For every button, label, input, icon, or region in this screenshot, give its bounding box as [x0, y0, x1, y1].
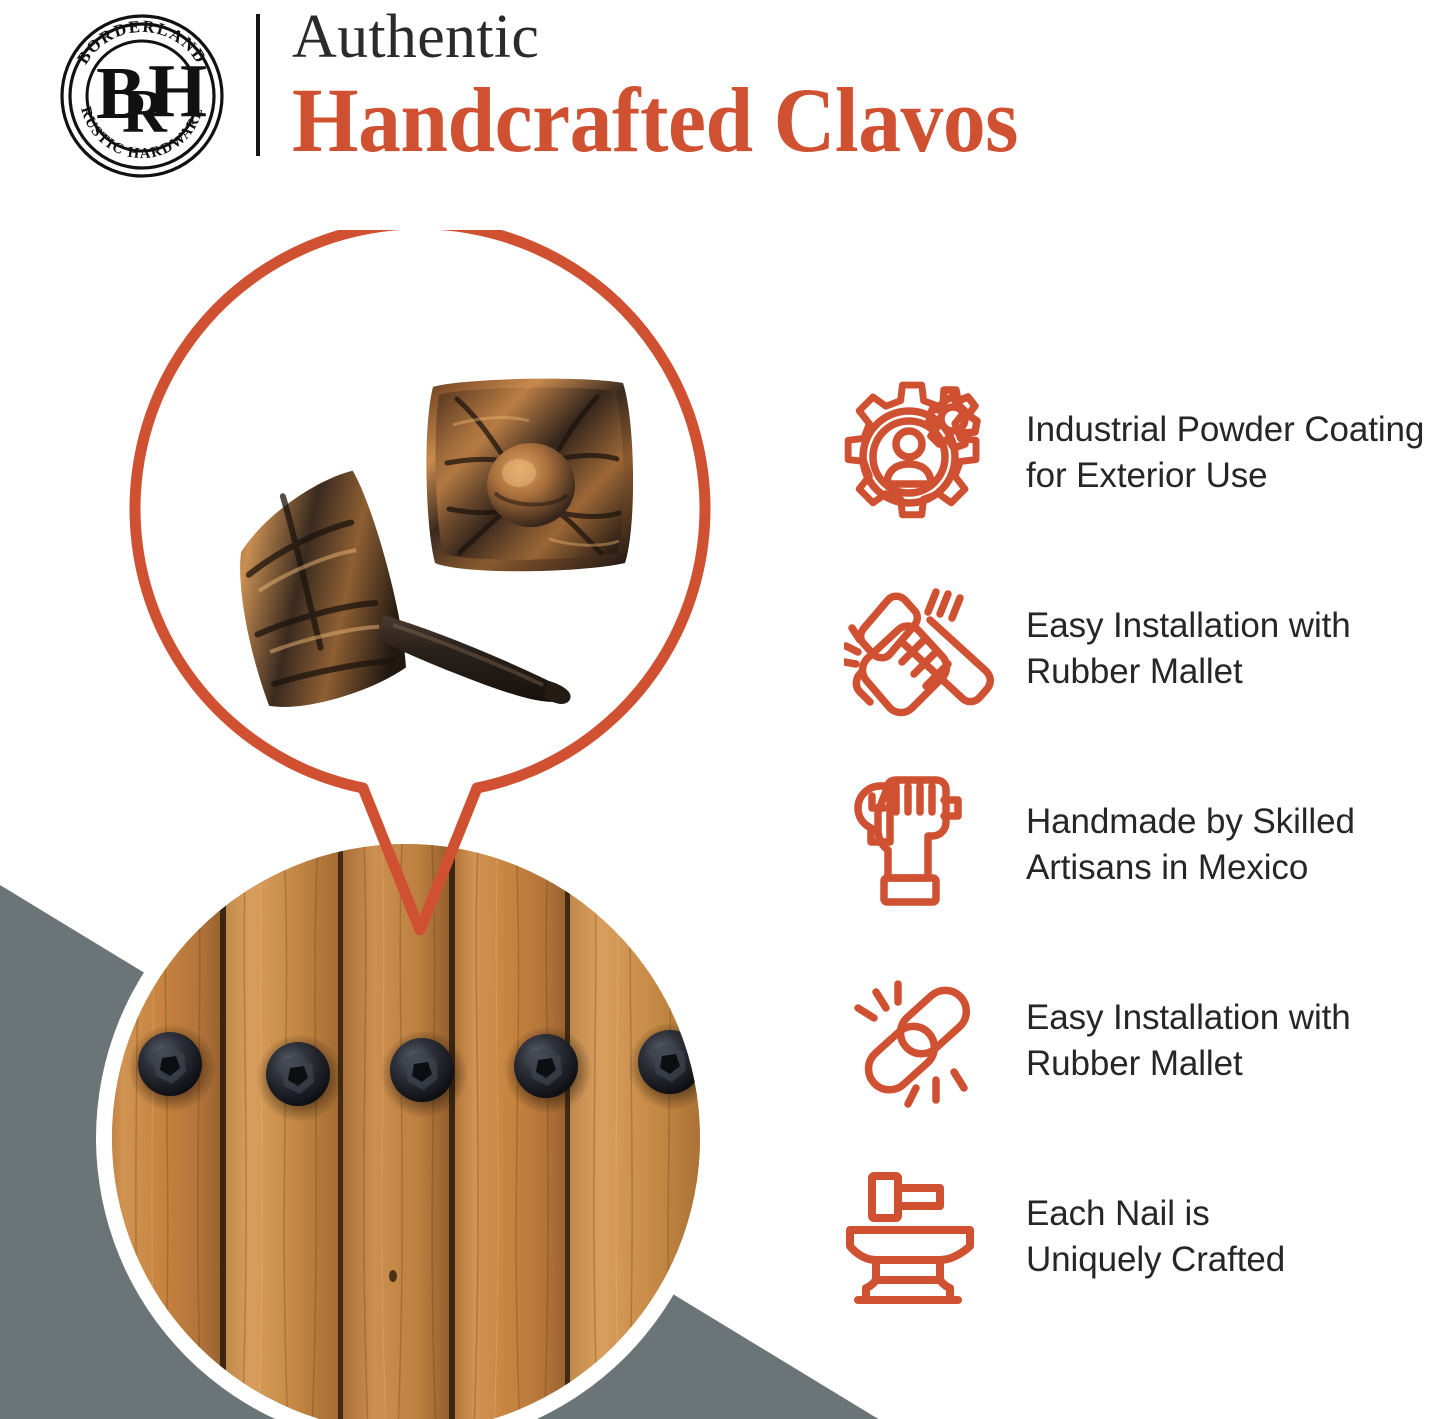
fist-wrench-icon [836, 770, 1004, 920]
feature-line-2: Uniquely Crafted [1026, 1237, 1285, 1283]
feature-label: Each Nail is Uniquely Crafted [1004, 1191, 1285, 1283]
infographic-canvas: BORDERLAND RUSTIC HARDWARE B R H Authent… [0, 0, 1445, 1419]
gear-person-icon [836, 378, 1004, 528]
feature-line-2: Artisans in Mexico [1026, 845, 1355, 891]
feature-line-1: Easy Installation with [1026, 603, 1351, 649]
feature-label: Easy Installation with Rubber Mallet [1004, 995, 1351, 1087]
callout-outline [120, 230, 720, 1020]
feature-line-1: Each Nail is [1026, 1191, 1285, 1237]
feature-label: Handmade by Skilled Artisans in Mexico [1004, 799, 1355, 891]
feature-line-2: Rubber Mallet [1026, 649, 1351, 695]
feature-item-rubber-mallet: Easy Installation with Rubber Mallet [836, 564, 1445, 734]
feature-item-uniquely-crafted: Each Nail is Uniquely Crafted [836, 1152, 1445, 1322]
feature-item-handmade-mexico: Handmade by Skilled Artisans in Mexico [836, 760, 1445, 930]
feature-line-1: Easy Installation with [1026, 995, 1351, 1041]
borderland-rustic-hardware-logo: BORDERLAND RUSTIC HARDWARE B R H [56, 10, 228, 182]
feature-label: Industrial Powder Coating for Exterior U… [1004, 407, 1424, 499]
feature-line-1: Handmade by Skilled [1026, 799, 1355, 845]
page-title: Authentic Handcrafted Clavos [292, 4, 1352, 168]
hand-mallet-icon [836, 574, 1004, 724]
svg-text:H: H [148, 49, 207, 133]
feature-line-1: Industrial Powder Coating [1026, 407, 1424, 453]
feature-label: Easy Installation with Rubber Mallet [1004, 603, 1351, 695]
feature-item-chain-link: Easy Installation with Rubber Mallet [836, 956, 1445, 1126]
feature-line-2: for Exterior Use [1026, 453, 1424, 499]
title-line-2: Handcrafted Clavos [292, 72, 1278, 168]
anvil-hammer-icon [836, 1162, 1004, 1312]
title-line-1: Authentic [292, 4, 1352, 70]
feature-line-2: Rubber Mallet [1026, 1041, 1351, 1087]
chain-link-icon [836, 966, 1004, 1116]
page-header: BORDERLAND RUSTIC HARDWARE B R H Authent… [0, 0, 1445, 190]
feature-item-powder-coating: Industrial Powder Coating for Exterior U… [836, 368, 1445, 538]
header-divider [256, 14, 260, 156]
